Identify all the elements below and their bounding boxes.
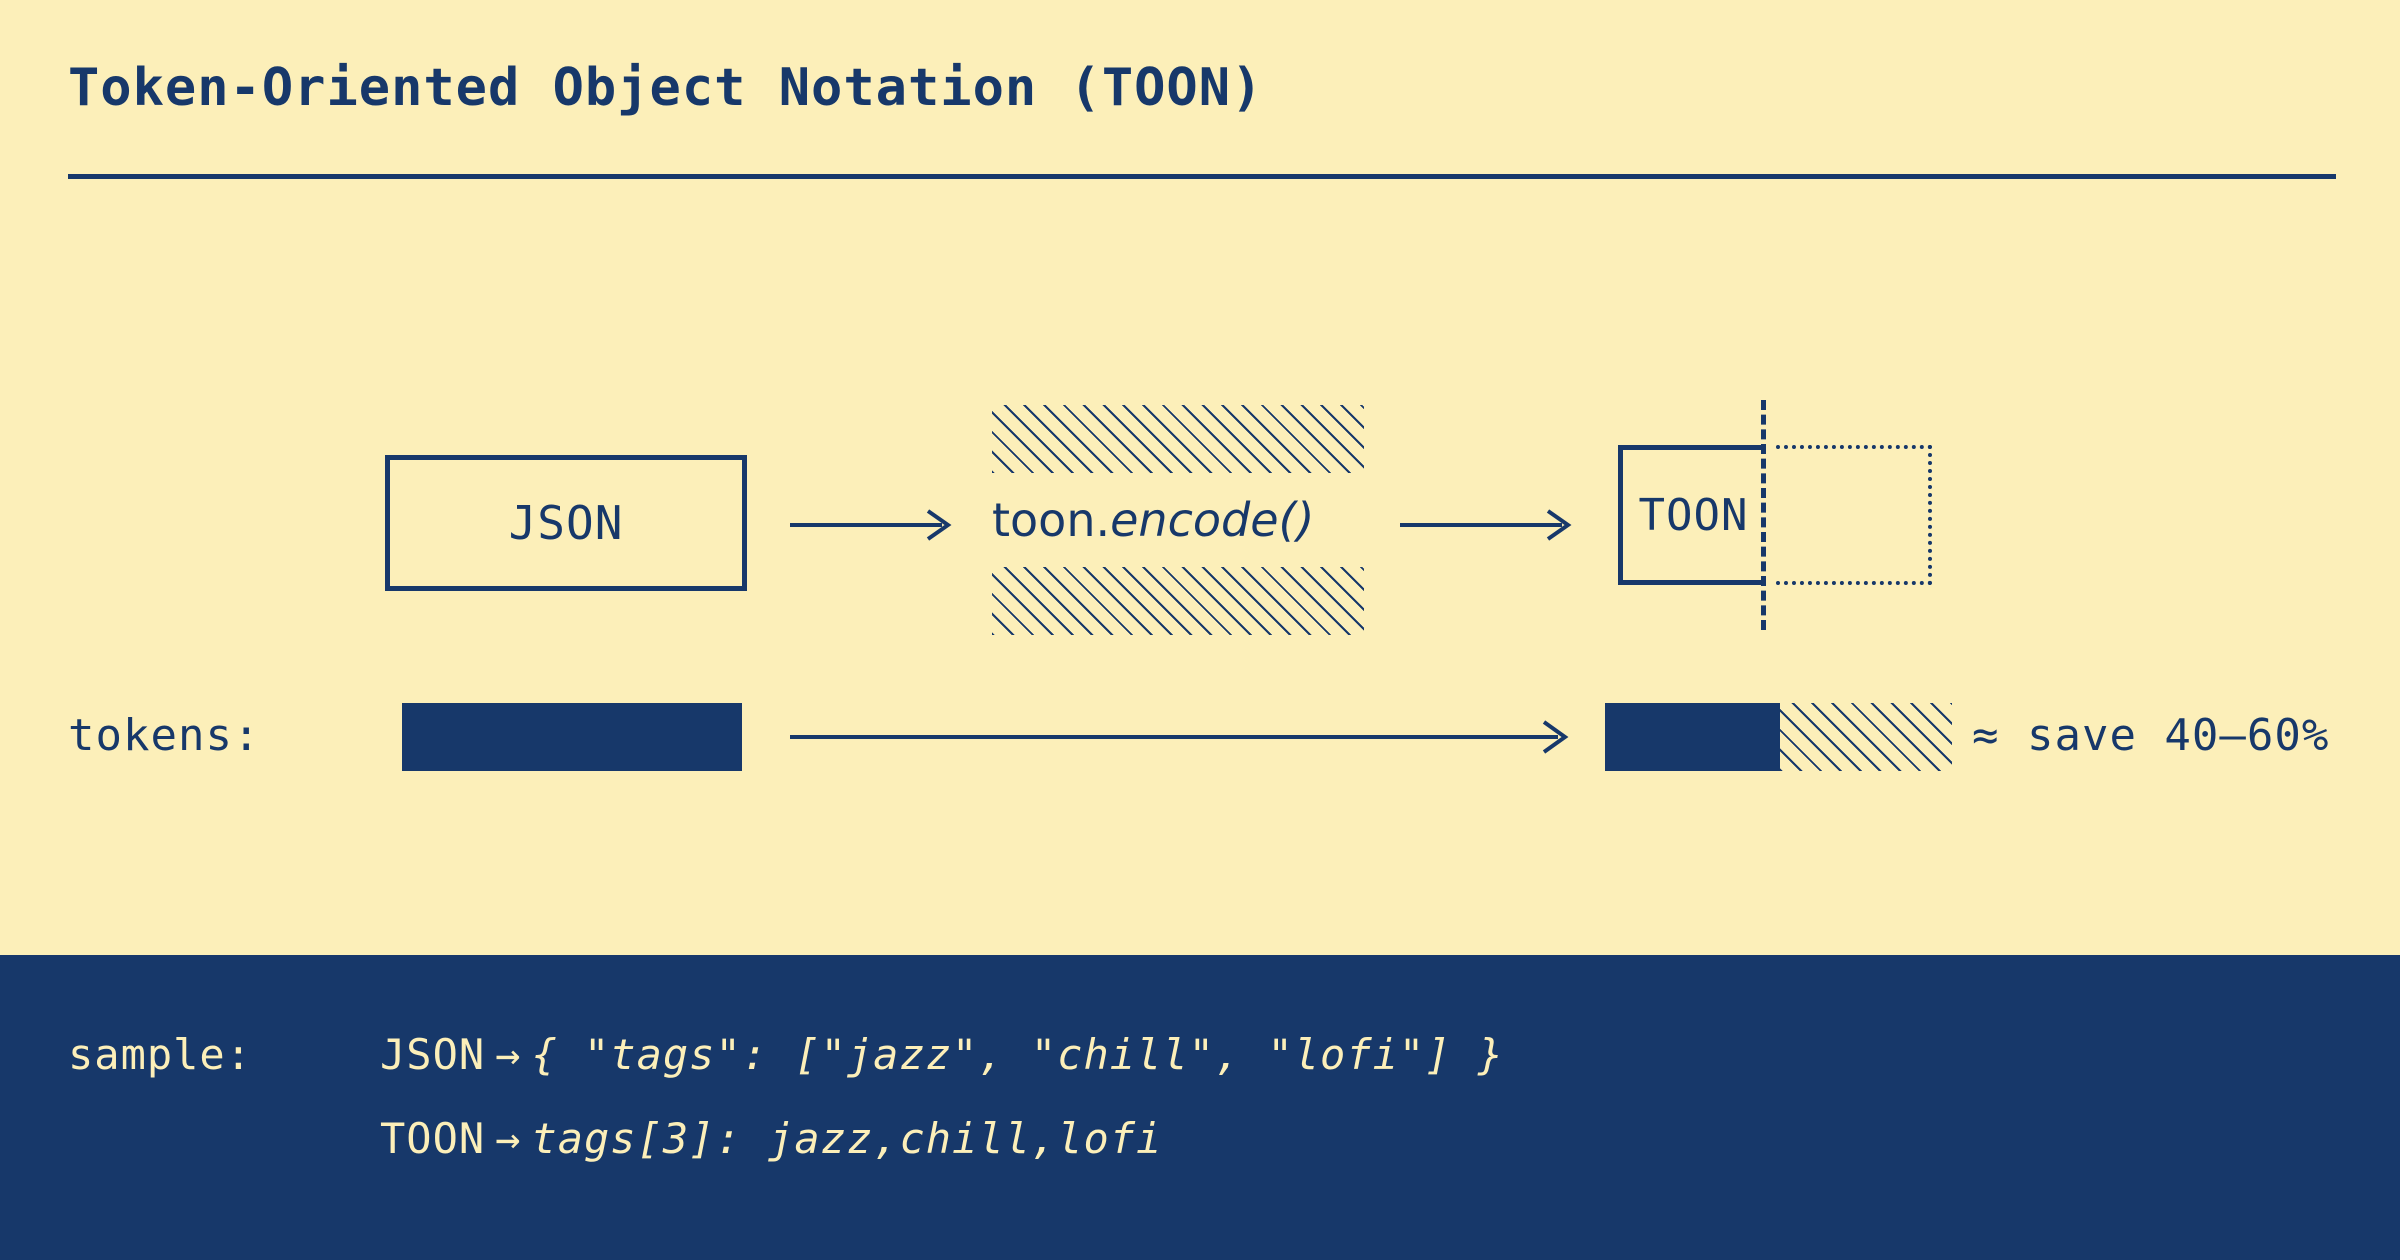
sample-panel xyxy=(0,955,2400,1260)
toon-split-divider xyxy=(1761,400,1766,630)
sample-line-json: JSON→{ "tags": ["jazz", "chill", "lofi"]… xyxy=(380,1030,1504,1079)
flow-arrow-encode-to-toon xyxy=(1400,505,1580,545)
tokens-comparison-arrow xyxy=(790,717,1580,757)
sample-line-toon-format: TOON xyxy=(380,1114,485,1163)
encode-transform-group: toon.encode() xyxy=(992,405,1364,635)
tokens-row-label: tokens: xyxy=(68,710,260,761)
encode-call-text: toon.encode() xyxy=(992,473,1364,567)
hatch-band-bottom xyxy=(992,567,1364,635)
sample-line-json-arrow-icon: → xyxy=(485,1030,531,1079)
sample-line-toon-arrow-icon: → xyxy=(485,1114,531,1163)
hatch-band-top xyxy=(992,405,1364,473)
toon-result-group: TOON xyxy=(1618,400,1938,630)
title-divider-rule xyxy=(68,174,2336,179)
sample-line-toon-code: tags[3]: jazz,chill,lofi xyxy=(531,1114,1162,1163)
slide-canvas: Token-Oriented Object Notation (TOON) JS… xyxy=(0,0,2400,1260)
tokens-bar-toon-used xyxy=(1605,703,1780,771)
tokens-bar-json xyxy=(402,703,742,771)
json-source-box-label: JSON xyxy=(509,496,624,550)
encode-call-method: encode() xyxy=(1110,493,1314,547)
sample-panel-label: sample: xyxy=(68,1030,252,1079)
toon-result-box: TOON xyxy=(1618,445,1764,585)
toon-result-box-label: TOON xyxy=(1639,490,1749,541)
flow-arrow-json-to-encode xyxy=(790,505,960,545)
savings-annotation: ≈ save 40–60% xyxy=(1972,710,2329,761)
sample-line-json-code: { "tags": ["jazz", "chill", "lofi"] } xyxy=(531,1030,1504,1079)
encode-call-prefix: toon. xyxy=(992,493,1110,547)
json-source-box: JSON xyxy=(385,455,747,591)
toon-savings-ghost-box xyxy=(1776,445,1932,585)
tokens-bar-toon-saved xyxy=(1780,703,1952,771)
page-title: Token-Oriented Object Notation (TOON) xyxy=(68,58,1263,118)
sample-line-toon: TOON→tags[3]: jazz,chill,lofi xyxy=(380,1114,1162,1163)
sample-line-json-format: JSON xyxy=(380,1030,485,1079)
